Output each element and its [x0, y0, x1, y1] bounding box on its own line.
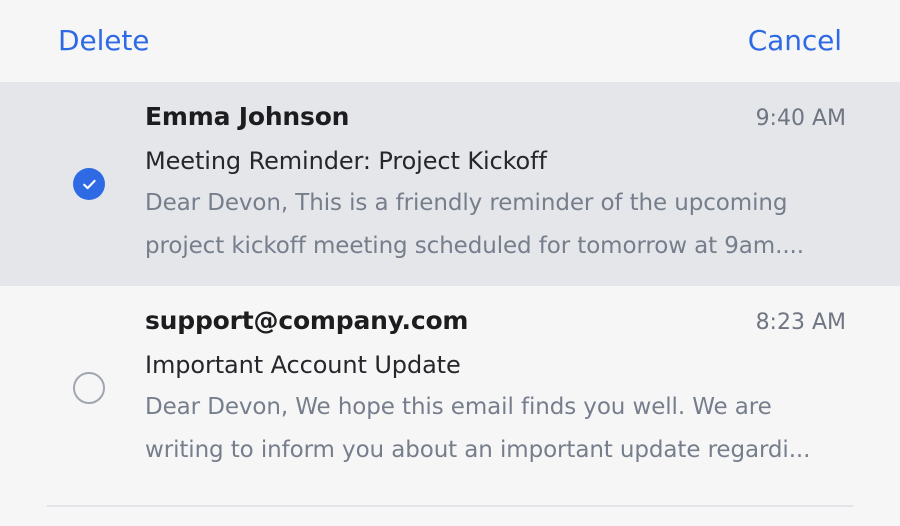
selection-toolbar: Delete Cancel [0, 0, 900, 82]
cancel-button[interactable]: Cancel [748, 25, 842, 57]
message-subject: Meeting Reminder: Project Kickoff [145, 142, 846, 180]
message-list-item[interactable]: Emma Johnson 9:40 AM Meeting Reminder: P… [0, 82, 900, 286]
email-selection-screen: Delete Cancel Emma Johnson 9:40 AM Meeti… [0, 0, 900, 526]
message-content: support@company.com 8:23 AM Important Ac… [145, 304, 846, 472]
message-sender: Emma Johnson [145, 100, 349, 134]
delete-button[interactable]: Delete [58, 25, 149, 57]
message-sender: support@company.com [145, 304, 468, 338]
check-circle-filled-icon[interactable] [73, 168, 105, 200]
message-list: Emma Johnson 9:40 AM Meeting Reminder: P… [0, 82, 900, 490]
message-content: Emma Johnson 9:40 AM Meeting Reminder: P… [145, 100, 846, 268]
message-subject: Important Account Update [145, 346, 846, 384]
circle-outline-icon[interactable] [73, 372, 105, 404]
message-list-item[interactable]: support@company.com 8:23 AM Important Ac… [0, 286, 900, 490]
message-preview: Dear Devon, We hope this email finds you… [145, 386, 846, 472]
message-preview: Dear Devon, This is a friendly reminder … [145, 182, 846, 268]
selection-checkbox-cell[interactable] [47, 100, 145, 268]
message-header-line: support@company.com 8:23 AM [145, 304, 846, 340]
selection-checkbox-cell[interactable] [47, 304, 145, 472]
message-header-line: Emma Johnson 9:40 AM [145, 100, 846, 136]
message-timestamp: 8:23 AM [756, 306, 846, 340]
list-bottom-divider [47, 505, 853, 507]
message-timestamp: 9:40 AM [756, 102, 846, 136]
